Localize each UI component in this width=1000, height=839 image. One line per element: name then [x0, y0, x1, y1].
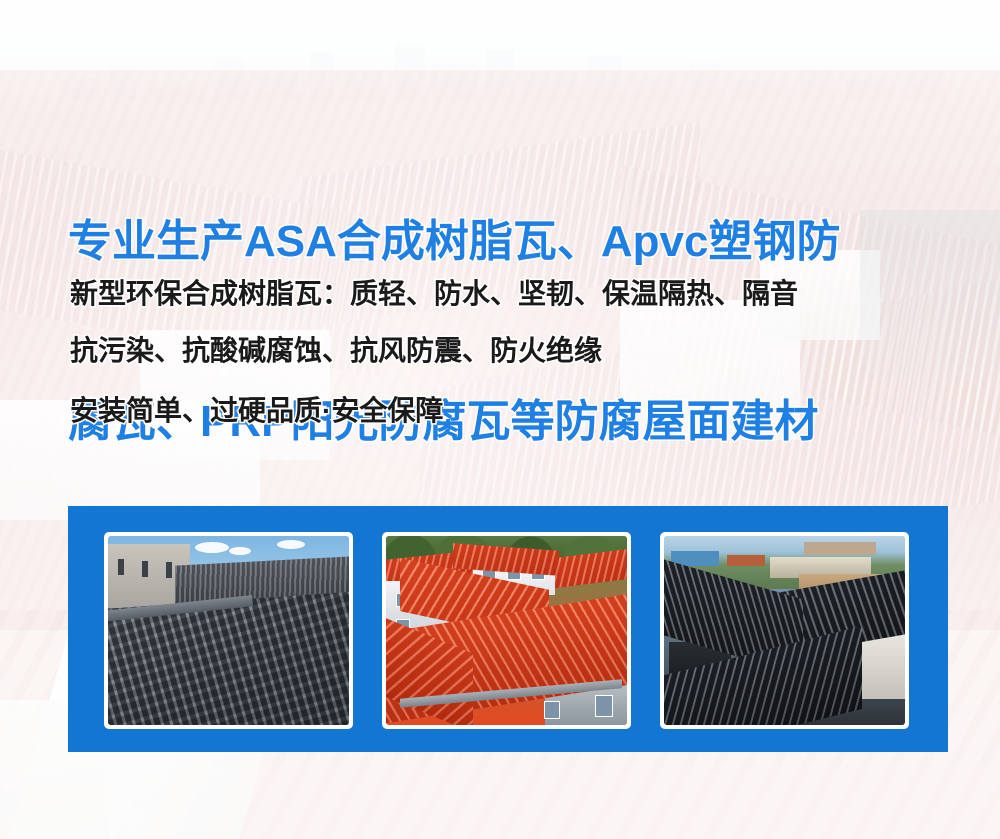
- subtitle-line-1: 新型环保合成树脂瓦：质轻、防水、坚韧、保温隔热、隔音: [70, 277, 798, 311]
- window-shape: [595, 695, 613, 717]
- photo3-orange-building: [727, 555, 766, 566]
- photo-dark-resin-tile-roof: [664, 536, 905, 725]
- cloud-shape: [277, 540, 305, 549]
- headline-line-1: 专业生产ASA合成树脂瓦、Apvc塑钢防: [68, 212, 968, 272]
- cloud-shape: [195, 542, 229, 553]
- product-banner: 专业生产ASA合成树脂瓦、Apvc塑钢防 腐瓦、PRP阳光防腐瓦等防腐屋面建材 …: [0, 0, 1000, 839]
- photo-red-resin-tile-roof: [386, 536, 627, 725]
- photo-frame-1[interactable]: [104, 532, 353, 729]
- window-shape: [118, 559, 124, 575]
- window-shape: [544, 701, 560, 719]
- photo-grey-resin-tile-roof: [108, 536, 349, 725]
- photo-frame-2[interactable]: [382, 532, 631, 729]
- subtitle-line-2: 抗污染、抗酸碱腐蚀、抗风防震、防火绝缘: [70, 334, 602, 368]
- photo3-far-building: [804, 542, 876, 555]
- window-shape: [166, 562, 172, 578]
- subtitle-line-3: 安装简单、过硬品质·安全保障: [70, 394, 443, 428]
- photo-panel: [68, 506, 948, 752]
- photo-frame-3[interactable]: [660, 532, 909, 729]
- headline: 专业生产ASA合成树脂瓦、Apvc塑钢防 腐瓦、PRP阳光防腐瓦等防腐屋面建材: [68, 92, 968, 572]
- photo-row: [104, 532, 909, 729]
- window-shape: [142, 561, 148, 577]
